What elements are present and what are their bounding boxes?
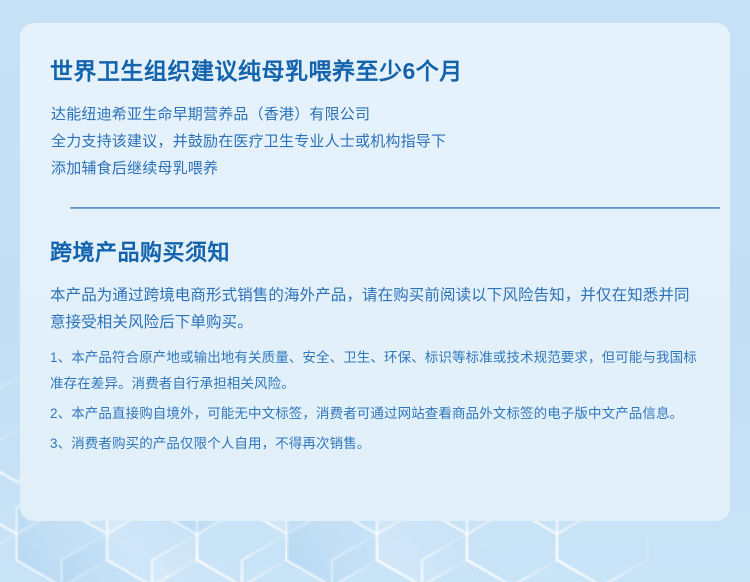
cross-border-notice-title: 跨境产品购买须知 [50, 235, 230, 267]
promo-banner: 世界卫生组织建议纯母乳喂养至少6个月 达能纽迪希亚生命早期营养品（香港）有限公司… [0, 0, 750, 582]
who-body-line-1: 达能纽迪希亚生命早期营养品（香港）有限公司 [51, 101, 446, 128]
section-divider [70, 207, 720, 209]
who-recommendation-body: 达能纽迪希亚生命早期营养品（香港）有限公司 全力支持该建议，并鼓励在医疗卫生专业… [51, 101, 446, 182]
list-item: 3、消费者购买的产品仅限个人自用，不得再次销售。 [50, 431, 705, 457]
list-item: 1、本产品符合原产地或输出地有关质量、安全、卫生、环保、标识等标准或技术规范要求… [50, 345, 705, 397]
list-item: 2、本产品直接购自境外，可能无中文标签，消费者可通过网站查看商品外文标签的电子版… [50, 401, 705, 427]
who-recommendation-title: 世界卫生组织建议纯母乳喂养至少6个月 [50, 52, 463, 86]
who-body-line-3: 添加辅食后继续母乳喂养 [51, 155, 446, 182]
notice-card: 世界卫生组织建议纯母乳喂养至少6个月 达能纽迪希亚生命早期营养品（香港）有限公司… [20, 23, 730, 521]
who-body-line-2: 全力支持该建议，并鼓励在医疗卫生专业人士或机构指导下 [51, 128, 446, 155]
cross-border-terms-list: 1、本产品符合原产地或输出地有关质量、安全、卫生、环保、标识等标准或技术规范要求… [50, 345, 705, 461]
cross-border-intro-paragraph: 本产品为通过跨境电商形式销售的海外产品，请在购买前阅读以下风险告知，并仅在知悉并… [50, 282, 705, 336]
